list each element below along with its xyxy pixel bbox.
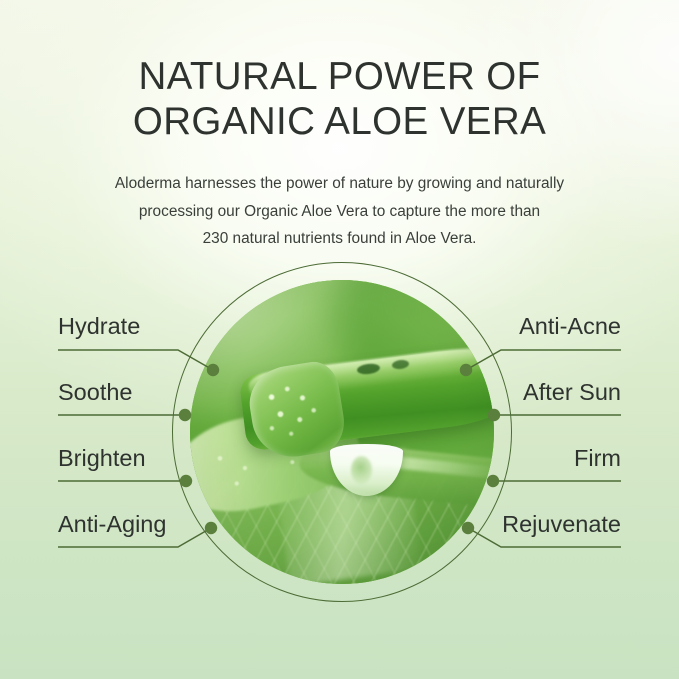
aloe-vera-benefits-infographic: NATURAL POWER OF ORGANIC ALOE VERA Alode… [0,0,679,679]
ring-dot-brighten [180,475,192,487]
benefit-label-after-sun: After Sun [523,379,621,405]
benefit-label-rejuvenate: Rejuvenate [502,511,621,537]
ring-dot-firm [487,475,499,487]
ring-dot-anti-aging [205,522,217,534]
connector-hydrate [58,350,213,370]
ring-dot-rejuvenate [462,522,474,534]
benefit-label-hydrate: Hydrate [58,313,140,339]
ring-dot-soothe [179,409,191,421]
benefit-label-firm: Firm [574,445,621,471]
ring-dot-after-sun [488,409,500,421]
benefit-label-anti-acne: Anti-Acne [519,313,621,339]
benefit-label-anti-aging: Anti-Aging [58,511,166,537]
benefit-label-brighten: Brighten [58,445,146,471]
ring-dot-hydrate [207,364,219,376]
connector-lines [0,0,679,679]
benefit-label-soothe: Soothe [58,379,132,405]
ring-dot-anti-acne [460,364,472,376]
connector-anti-acne [466,350,621,370]
aloe-circle-group [0,0,679,679]
